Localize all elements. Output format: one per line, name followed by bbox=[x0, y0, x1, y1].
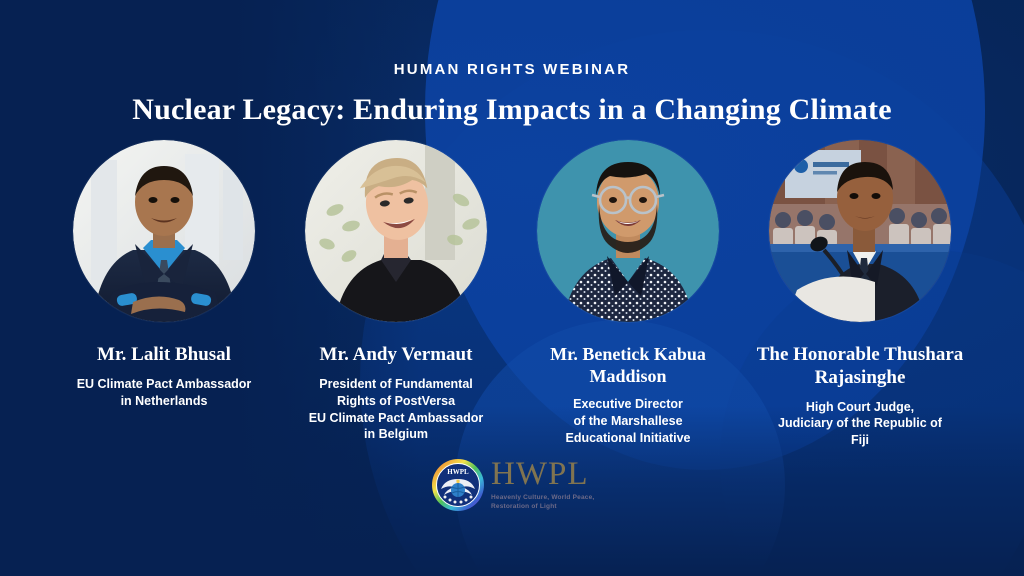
speaker-name: Mr. Lalit Bhusal bbox=[48, 344, 280, 367]
speaker-role: High Court Judge, Judiciary of the Repub… bbox=[744, 399, 976, 450]
speaker-card: Mr. Lalit Bhusal EU Climate Pact Ambassa… bbox=[48, 140, 280, 410]
event-kicker: HUMAN RIGHTS WEBINAR bbox=[0, 62, 1024, 77]
svg-text:HWPL: HWPL bbox=[447, 468, 469, 476]
speaker-card: Mr. Benetick Kabua Maddison Executive Di… bbox=[512, 140, 744, 447]
webinar-poster: HUMAN RIGHTS WEBINAR Nuclear Legacy: End… bbox=[0, 0, 1024, 576]
speaker-name: The Honorable Thushara Rajasinghe bbox=[744, 344, 976, 390]
avatar bbox=[305, 140, 487, 322]
hwpl-logo: HWPL HWPL Heavenly Culture, World Peace,… bbox=[432, 458, 594, 512]
speaker-role: EU Climate Pact Ambassador in Netherland… bbox=[48, 376, 280, 410]
avatar bbox=[73, 140, 255, 322]
portrait-thushara-rajasinghe-icon bbox=[769, 140, 951, 322]
portrait-benetick-kabua-maddison-icon bbox=[537, 140, 719, 322]
poster-header: HUMAN RIGHTS WEBINAR Nuclear Legacy: End… bbox=[0, 62, 1024, 126]
speaker-role: Executive Director of the Marshallese Ed… bbox=[512, 396, 744, 447]
page-title: Nuclear Legacy: Enduring Impacts in a Ch… bbox=[0, 93, 1024, 126]
speaker-role: President of Fundamental Rights of PostV… bbox=[280, 376, 512, 444]
speaker-card: The Honorable Thushara Rajasinghe High C… bbox=[744, 140, 976, 449]
speaker-name: Mr. Benetick Kabua Maddison bbox=[512, 344, 744, 387]
hwpl-wordmark-text: HWPL bbox=[491, 458, 594, 491]
speaker-list: Mr. Lalit Bhusal EU Climate Pact Ambassa… bbox=[0, 140, 1024, 449]
portrait-lalit-bhusal-icon bbox=[73, 140, 255, 322]
avatar bbox=[769, 140, 951, 322]
speaker-card: Mr. Andy Vermaut President of Fundamenta… bbox=[280, 140, 512, 443]
hwpl-tagline: Heavenly Culture, World Peace, Restorati… bbox=[491, 493, 594, 512]
speaker-name: Mr. Andy Vermaut bbox=[280, 344, 512, 367]
portrait-andy-vermaut-icon bbox=[305, 140, 487, 322]
hwpl-emblem-icon: HWPL bbox=[432, 459, 484, 511]
hwpl-wordmark: HWPL Heavenly Culture, World Peace, Rest… bbox=[491, 458, 594, 512]
avatar bbox=[537, 140, 719, 322]
